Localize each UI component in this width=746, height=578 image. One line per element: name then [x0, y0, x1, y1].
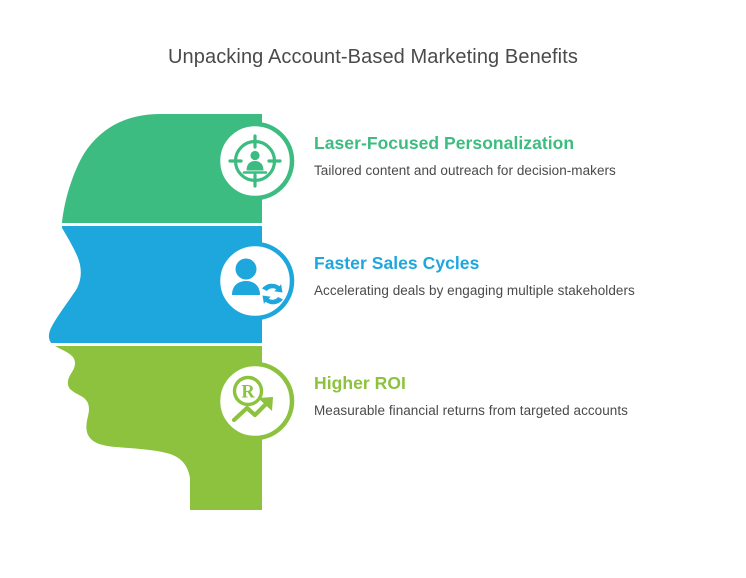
benefit-item-2: Higher ROI Measurable financial returns …	[314, 373, 714, 418]
benefit-item-0: Laser-Focused Personalization Tailored c…	[314, 133, 714, 178]
roi-growth-arrow-icon: R	[234, 378, 273, 421]
icon-badge-0	[218, 124, 292, 198]
benefit-item-1: Faster Sales Cycles Accelerating deals b…	[314, 253, 714, 298]
growth-line	[234, 400, 270, 420]
benefit-description-0: Tailored content and outreach for decisi…	[314, 163, 714, 178]
benefit-title-2: Higher ROI	[314, 373, 714, 394]
benefit-title-0: Laser-Focused Personalization	[314, 133, 714, 154]
icon-badge-2: R	[218, 364, 292, 438]
icon-circle-0	[218, 124, 292, 198]
growth-arrowhead	[258, 397, 273, 411]
band-middle	[40, 226, 280, 343]
benefit-description-2: Measurable financial returns from target…	[314, 403, 714, 418]
person-glyph-0	[247, 151, 264, 171]
icon-circle-2	[218, 364, 292, 438]
benefit-description-1: Accelerating deals by engaging multiple …	[314, 283, 714, 298]
roi-r-letter: R	[241, 383, 255, 403]
target-person-icon	[230, 136, 280, 186]
head-color-bands	[40, 108, 280, 516]
benefit-title-1: Faster Sales Cycles	[314, 253, 714, 274]
band-top	[40, 108, 280, 223]
band-bottom	[40, 346, 280, 516]
icon-circle-1	[218, 244, 292, 318]
infographic-container: Unpacking Account-Based Marketing Benefi…	[0, 0, 746, 578]
icon-badge-1	[218, 244, 292, 318]
page-title: Unpacking Account-Based Marketing Benefi…	[0, 46, 746, 69]
roi-r-circle	[235, 378, 262, 405]
person-sync-icon	[232, 259, 283, 305]
